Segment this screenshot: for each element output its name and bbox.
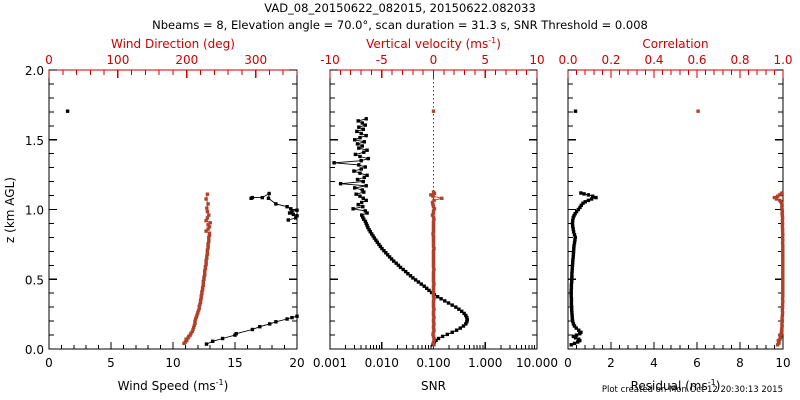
panel-1-data-point <box>295 209 298 212</box>
panel-2-data-point <box>357 119 360 122</box>
panel-3-data-point <box>584 200 587 203</box>
panel-3-data-point <box>572 335 575 338</box>
panel-2-data-point <box>357 163 360 166</box>
panel-1-data-point <box>285 205 288 208</box>
panel-1-data-point <box>206 202 209 205</box>
panel-3-xtick-label: 0 <box>564 356 572 370</box>
panel-3-frame <box>568 70 783 349</box>
panel-2-data-point <box>455 329 458 332</box>
panel-2-data-point <box>454 305 457 308</box>
vad-profile-figure: VAD_08_20150622_082015, 20150622.082033 … <box>0 0 800 400</box>
panel-1-data-point <box>290 316 293 319</box>
panel-2-data-point <box>361 188 364 191</box>
panel-2-xtick-label: 0.001 <box>313 356 347 370</box>
panel-3-top-xtick-label: 0.2 <box>601 53 620 67</box>
panel-1-top-xtick-label: 100 <box>106 53 129 67</box>
panel-2-data-point <box>451 331 454 334</box>
panel-2-data-point <box>364 165 367 168</box>
panel-1-data-point <box>261 196 264 199</box>
panel-2-data-point <box>451 303 454 306</box>
panel-3-top-xtick-label: 0.0 <box>558 53 577 67</box>
panel-2-data-point <box>361 144 364 147</box>
panel-3-data-point <box>778 199 781 202</box>
panel-2-data-point <box>364 209 367 212</box>
panel-2-data-point <box>365 134 368 137</box>
panel-3-data-point <box>575 333 578 336</box>
panel-1-data-point <box>207 213 210 216</box>
panel-2-data-point <box>432 110 435 113</box>
panel-3-xtick-label: 10 <box>775 356 790 370</box>
page-subtitle: Nbeams = 8, Elevation angle = 70.0°, sca… <box>152 18 648 32</box>
panel-1-data-point <box>295 214 298 217</box>
panel-2-data-point <box>360 201 363 204</box>
panel-2-data-point <box>362 151 365 154</box>
panel-2-data-point <box>358 172 361 175</box>
panel-2-top-xtick-label: -5 <box>376 53 388 67</box>
panel-3-data-point <box>773 196 776 199</box>
panel-2-top-xtick-label: 5 <box>481 53 489 67</box>
panel-1-data-point <box>289 207 292 210</box>
panel-1-data-point <box>205 206 208 209</box>
panel-3-data-point <box>579 191 582 194</box>
page-title: VAD_08_20150622_082015, 20150622.082033 <box>264 1 536 15</box>
panel-2-data-point <box>365 184 368 187</box>
panel-1-series-line-1 <box>251 194 297 221</box>
panel-1-frame <box>49 70 297 349</box>
panel-2-data-point <box>439 297 442 300</box>
panel-2-data-point <box>362 180 365 183</box>
panel-2-data-point <box>358 136 361 139</box>
panel-2-data-point <box>365 199 368 202</box>
panel-3-data-point <box>570 343 573 346</box>
panel-3-data-point <box>582 192 585 195</box>
panel-1-data-point <box>258 325 261 328</box>
panel-3-top-xtick-label: 1.0 <box>773 53 792 67</box>
panel-1-xtick-label: 0 <box>45 356 53 370</box>
panel-2-data-point <box>361 205 364 208</box>
panel-1-data-point <box>274 202 277 205</box>
panel-1-data-point <box>211 340 214 343</box>
panel-1-xtick-label: 15 <box>227 356 242 370</box>
panel-2-data-point <box>457 308 460 311</box>
panel-1-data-point <box>204 197 207 200</box>
panel-2-data-point <box>360 159 363 162</box>
y-axis-tick-label: 1.5 <box>25 134 44 148</box>
panel-1-top-xtick-label: 0 <box>45 53 53 67</box>
panel-2-data-point <box>363 140 366 143</box>
panel-1-top-axis-label: Wind Direction (deg) <box>111 37 235 51</box>
panel-2-top-axis-label: Vertical velocity (ms-1) <box>366 36 501 51</box>
panel-1-data-point <box>295 315 298 318</box>
panel-1-data-point <box>206 193 209 196</box>
panel-3-data-point <box>591 195 594 198</box>
panel-1-data-point <box>221 337 224 340</box>
panel-2-data-point <box>354 153 357 156</box>
panel-2-data-point <box>432 190 435 193</box>
panel-2-data-point <box>353 138 356 141</box>
panel-2-data-point <box>360 132 363 135</box>
panel-1-data-point <box>274 320 277 323</box>
y-axis-tick-label: 1.0 <box>25 204 44 218</box>
panel-2-data-point <box>362 197 365 200</box>
panel-2-data-point <box>357 126 360 129</box>
panel-3-xtick-label: 6 <box>693 356 701 370</box>
panel-2-data-point <box>459 326 462 329</box>
panel-2-data-point <box>351 207 354 210</box>
panel-2-data-point <box>365 174 368 177</box>
panel-2-data-point <box>355 130 358 133</box>
panel-2-data-point <box>420 282 423 285</box>
panel-1-data-point <box>208 232 211 235</box>
panel-group: 0510152001002003000.00.51.01.52.0Wind Sp… <box>25 36 793 393</box>
panel-2-xtick-label: 1.000 <box>468 356 502 370</box>
panel-2-data-point <box>354 193 357 196</box>
panel-1-data-point <box>235 332 238 335</box>
panel-2-data-point <box>353 186 356 189</box>
panel-2-data-point <box>436 295 439 298</box>
panel-2-xtick-label: 10.000 <box>516 356 558 370</box>
panel-3-x-axis-label: Residual (ms-1) <box>631 378 721 393</box>
panel-2-data-point <box>437 337 440 340</box>
panel-3-data-point <box>587 199 590 202</box>
panel-2-x-axis-label: SNR <box>421 379 446 393</box>
y-axis-tick-label: 2.0 <box>25 64 44 78</box>
panel-2-data-point <box>446 333 449 336</box>
panel-2-data-point <box>358 195 361 198</box>
panel-3-top-xtick-label: 0.4 <box>644 53 663 67</box>
panel-2-data-point <box>352 169 355 172</box>
panel-2-top-xtick-label: 0 <box>430 53 438 67</box>
panel-2-data-point <box>362 128 365 131</box>
panel-3-data-point <box>587 193 590 196</box>
panel-3-top-xtick-label: 0.8 <box>730 53 749 67</box>
panel-2-data-point <box>361 121 364 124</box>
panel-1-data-point <box>205 342 208 345</box>
panel-3-top-axis-label: Correlation <box>642 37 708 51</box>
panel-2-data-point <box>365 117 368 120</box>
panel-1-top-xtick-label: 200 <box>175 53 198 67</box>
panel-2-data-point <box>447 301 450 304</box>
panel-3-data-point <box>594 196 597 199</box>
panel-1-xtick-label: 20 <box>289 356 304 370</box>
y-axis-tick-label: 0.0 <box>25 343 44 357</box>
panel-1-xtick-label: 10 <box>165 356 180 370</box>
panel-1-xtick-label: 5 <box>107 356 115 370</box>
panel-2-data-point <box>356 142 359 145</box>
panel-2-xtick-label: 0.100 <box>416 356 450 370</box>
panel-2-data-point <box>357 146 360 149</box>
panel-1-x-axis-label: Wind Speed (ms-1) <box>118 378 229 393</box>
plot-canvas: VAD_08_20150622_082015, 20150622.082033 … <box>0 0 800 400</box>
panel-2-top-xtick-label: -10 <box>320 53 340 67</box>
panel-3-data-point <box>696 110 699 113</box>
panel-1-data-point <box>267 192 270 195</box>
panel-3-data-point <box>574 110 577 113</box>
panel-2-top-xtick-label: 10 <box>529 53 544 67</box>
panel-2-data-point <box>440 197 443 200</box>
panel-2-data-point <box>367 157 370 160</box>
panel-2-data-point <box>332 161 335 164</box>
panel-3-xtick-label: 8 <box>736 356 744 370</box>
panel-3-data-point <box>577 338 580 341</box>
panel-2-data-point <box>357 203 360 206</box>
panel-2-data-point <box>364 123 367 126</box>
panel-3-data-point <box>573 342 576 345</box>
panel-1-data-point <box>66 110 69 113</box>
panel-3-data-point <box>780 191 783 194</box>
panel-2-data-point <box>432 199 435 202</box>
panel-2-data-point <box>339 182 342 185</box>
panel-2-data-point <box>441 335 444 338</box>
panel-1-data-point <box>285 317 288 320</box>
panel-2-data-point <box>358 155 361 158</box>
panel-2-data-point <box>365 149 368 152</box>
panel-1-top-xtick-label: 300 <box>244 53 267 67</box>
panel-2-data-point <box>360 167 363 170</box>
panel-2-data-point <box>360 213 363 216</box>
panel-3-xtick-label: 4 <box>650 356 658 370</box>
panel-1-data-point <box>206 210 209 213</box>
panel-1-data-point <box>268 322 271 325</box>
y-axis-label: z (km AGL) <box>3 177 17 243</box>
panel-2-xtick-label: 0.010 <box>365 356 399 370</box>
panel-2-data-point <box>423 285 426 288</box>
panel-1-data-point <box>209 221 212 224</box>
panel-3-top-xtick-label: 0.6 <box>687 53 706 67</box>
panel-2-data-point <box>443 299 446 302</box>
panel-1-data-point <box>251 328 254 331</box>
panel-1-data-point <box>287 218 290 221</box>
panel-3-xtick-label: 2 <box>607 356 615 370</box>
panel-2-data-point <box>356 178 359 181</box>
y-axis-tick-label: 0.5 <box>25 273 44 287</box>
panel-1-data-point <box>267 197 270 200</box>
panel-1-data-point <box>249 197 252 200</box>
